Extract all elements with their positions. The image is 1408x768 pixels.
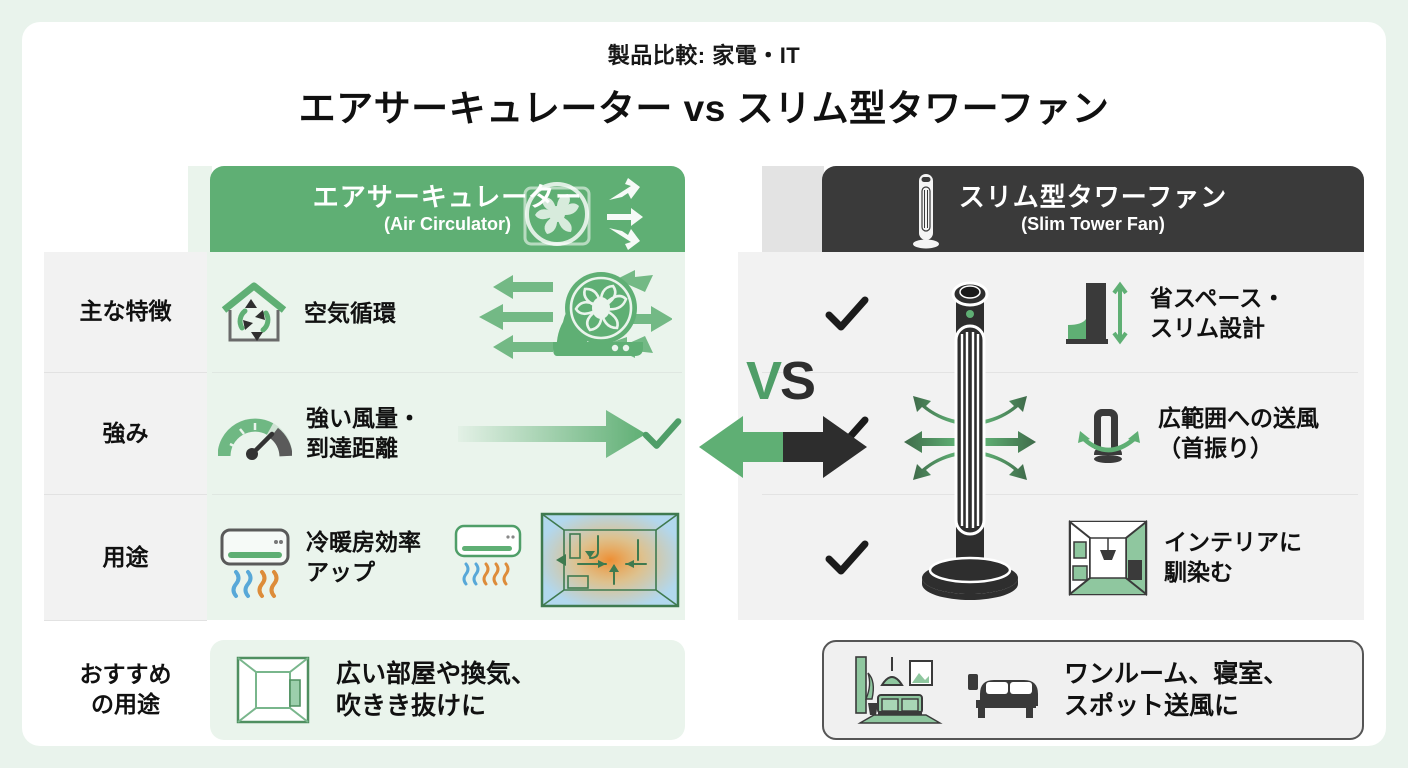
double-arrow-icon (695, 414, 875, 480)
column-header-left: エアサーキュレーター (Air Circulator) (210, 166, 685, 252)
cell-left-row2: 冷暖房効率アップ (218, 500, 684, 616)
recommend-left: 広い部屋や換気、吹きき抜けに (210, 640, 685, 740)
interior-room-icon (1068, 520, 1148, 596)
cell-right-row2-text: インテリアに馴染む (1164, 528, 1302, 588)
cell-left-row1-text: 強い風量・到達距離 (306, 404, 421, 464)
slim-footprint-icon (1062, 277, 1134, 351)
cell-left-row0-text: 空気循環 (304, 299, 396, 329)
recommend-left-text: 広い部屋や換気、吹きき抜けに (336, 658, 536, 723)
house-circulation-icon (218, 280, 290, 348)
vs-letter-s: S (780, 351, 814, 411)
row-divider (212, 372, 682, 373)
open-room-icon (236, 656, 310, 724)
title-block: 製品比較: 家電・IT エアサーキュレーター vs スリム型タワーファン (22, 38, 1386, 132)
right-header-strip (762, 166, 824, 252)
tower-fan-icon (906, 170, 946, 252)
check-left-row1 (634, 378, 690, 490)
check-icon (824, 294, 870, 334)
check-icon (824, 538, 870, 578)
tower-fan-illustration (900, 270, 1040, 614)
check-right-row0 (812, 262, 882, 366)
recommend-right-text: ワンルーム、寝室、スポット送風に (1064, 658, 1288, 723)
cell-right-row2: インテリアに馴染む (1068, 500, 1364, 616)
row-divider (212, 494, 682, 495)
cell-right-row0-text: 省スペース・スリム設計 (1150, 284, 1285, 344)
recommend-right: ワンルーム、寝室、スポット送風に (822, 640, 1364, 740)
kicker-text: 製品比較: 家電・IT (22, 38, 1386, 70)
cell-right-row1: 広範囲への送風（首振り） (1074, 378, 1364, 490)
recommend-label-text: おすすめの用途 (80, 660, 172, 720)
row-label-0: 主な特徴 (44, 252, 207, 372)
row-label-text: 強み (103, 419, 149, 449)
check-icon (641, 416, 683, 452)
row-divider (762, 494, 1358, 495)
row-label-1: 強み (44, 373, 207, 494)
cell-left-row0: 空気循環 (218, 262, 678, 366)
right-column-subtitle: (Slim Tower Fan) (959, 214, 1227, 234)
oscillation-icon (1074, 399, 1144, 469)
cell-right-row1-text: 広範囲への送風（首振り） (1158, 404, 1319, 464)
column-header-right: スリム型タワーファン (Slim Tower Fan) (822, 166, 1364, 252)
room-heatmap-illustration (454, 506, 684, 610)
row-label-text: 用途 (103, 543, 149, 573)
check-right-row2 (812, 500, 882, 616)
circulator-fan-icon (511, 170, 661, 252)
bed-icon (966, 660, 1042, 720)
recommend-label: おすすめの用途 (44, 640, 207, 740)
air-conditioner-icon (218, 516, 296, 600)
living-room-icon (852, 653, 944, 727)
vs-letter-v: V (746, 351, 780, 411)
cell-right-row0: 省スペース・スリム設計 (1062, 262, 1362, 366)
left-header-strip (188, 166, 212, 252)
cell-left-row2-text: 冷暖房効率アップ (306, 528, 421, 588)
row-label-2: 用途 (44, 495, 207, 620)
cell-left-row1: 強い風量・到達距離 (218, 378, 668, 490)
circulator-airflow-illustration (457, 262, 672, 366)
vs-block: VS (685, 362, 875, 482)
page-title: エアサーキュレーター vs スリム型タワーファン (22, 78, 1386, 132)
right-column-title: スリム型タワーファン (959, 183, 1227, 212)
gauge-icon (218, 404, 292, 464)
comparison-card: 製品比較: 家電・IT エアサーキュレーター vs スリム型タワーファン エアサ… (22, 22, 1386, 746)
label-divider (44, 620, 207, 621)
row-label-text: 主な特徴 (80, 297, 172, 327)
